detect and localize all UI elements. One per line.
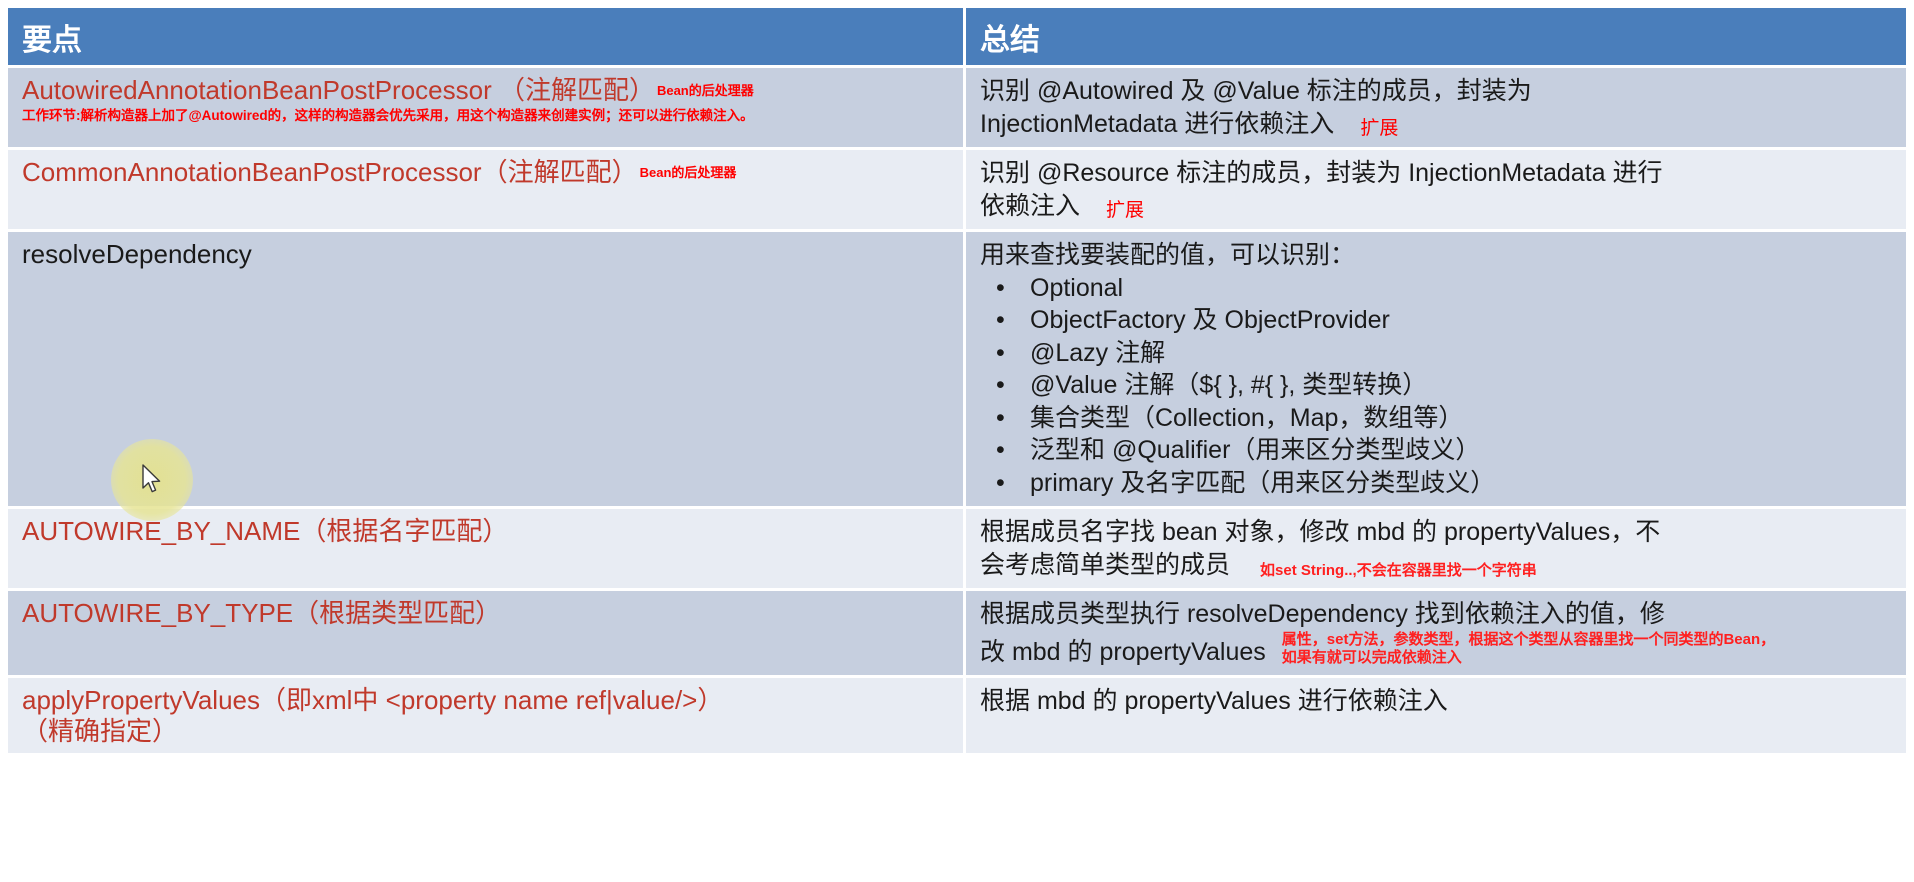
list-item: •@Value 注解（${ }, #{ }, 类型转换） (980, 369, 1896, 402)
row-key-cell: AUTOWIRE_BY_NAME（根据名字匹配） (8, 509, 963, 588)
summary-annotation-line-1: 属性，set方法，参数类型，根据这个类型从容器里找一个同类型的Bean， (1282, 631, 1775, 650)
slide-canvas: 要点 总结 AutowiredAnnotationBeanPostProcess… (0, 0, 1914, 882)
row-summary-cell: 根据成员类型执行 resolveDependency 找到依赖注入的值，修 改 … (966, 591, 1906, 675)
row-key-cell: AUTOWIRE_BY_TYPE（根据类型匹配） (8, 591, 963, 675)
summary-line-1: 用来查找要装配的值，可以识别： (980, 239, 1896, 272)
row-key-text-wrapper: CommonAnnotationBeanPostProcessor（注解匹配）B… (22, 157, 963, 188)
bullet-dot-icon: • (996, 272, 1005, 305)
list-item: •ObjectFactory 及 ObjectProvider (980, 304, 1896, 337)
summary-line-1: 根据 mbd 的 propertyValues 进行依赖注入 (980, 685, 1896, 718)
list-item-label: 集合类型（Collection，Map，数组等） (1030, 404, 1463, 432)
summary-line-2: InjectionMetadata 进行依赖注入 (980, 108, 1334, 141)
row-key-label: resolveDependency (22, 239, 963, 270)
row-summary-cell: 用来查找要装配的值，可以识别： •Optional •ObjectFactory… (966, 232, 1906, 506)
row-key-label: CommonAnnotationBeanPostProcessor（注解匹配） (22, 157, 638, 187)
row-key-label: AUTOWIRE_BY_TYPE（根据类型匹配） (22, 598, 963, 629)
bullet-dot-icon: • (996, 402, 1005, 435)
row-key-cell: AutowiredAnnotationBeanPostProcessor （注解… (8, 68, 963, 147)
list-item-label: ObjectFactory 及 ObjectProvider (1030, 306, 1390, 334)
summary-line-1: 根据成员类型执行 resolveDependency 找到依赖注入的值，修 (980, 598, 1896, 631)
list-item: •集合类型（Collection，Map，数组等） (980, 402, 1896, 435)
summary-line-2-wrap: 依赖注入 扩展 (980, 190, 1896, 223)
bullet-dot-icon: • (996, 369, 1005, 402)
bullet-dot-icon: • (996, 467, 1005, 500)
row-summary-cell: 识别 @Autowired 及 @Value 标注的成员，封装为 Injecti… (966, 68, 1906, 147)
summary-tag: 扩展 (1106, 195, 1144, 222)
list-item: •泛型和 @Qualifier（用来区分类型歧义） (980, 434, 1896, 467)
summary-tag: 扩展 (1360, 113, 1398, 140)
row-key-cell: applyPropertyValues（即xml中 <property name… (8, 678, 963, 753)
summary-annotation: 如set String..,不会在容器里找一个字符串 (1260, 562, 1537, 581)
list-item-label: primary 及名字匹配（用来区分类型歧义） (1030, 469, 1495, 497)
table-row[interactable]: resolveDependency 用来查找要装配的值，可以识别： •Optio… (8, 232, 1906, 506)
summary-table: 要点 总结 AutowiredAnnotationBeanPostProcess… (8, 8, 1906, 756)
list-item-label: Optional (1030, 274, 1123, 302)
list-item: •Optional (980, 272, 1896, 305)
list-item-label: @Value 注解（${ }, #{ }, 类型转换） (1030, 371, 1427, 399)
row-key-label: AUTOWIRE_BY_NAME（根据名字匹配） (22, 516, 963, 547)
table-row[interactable]: AutowiredAnnotationBeanPostProcessor （注解… (8, 68, 1906, 147)
row-key-cell: resolveDependency (8, 232, 963, 506)
row-summary-cell: 根据 mbd 的 propertyValues 进行依赖注入 (966, 678, 1906, 753)
row-key-annotation: 工作环节:解析构造器上加了@Autowired的，这样的构造器会优先采用，用这个… (22, 107, 963, 125)
bullet-dot-icon: • (996, 337, 1005, 370)
row-key-superscript: Bean的后处理器 (640, 165, 737, 180)
summary-line-2-wrap: 会考虑简单类型的成员 如set String..,不会在容器里找一个字符串 (980, 549, 1896, 582)
header-cell-summary: 总结 (966, 8, 1906, 65)
table-row[interactable]: AUTOWIRE_BY_NAME（根据名字匹配） 根据成员名字找 bean 对象… (8, 509, 1906, 588)
list-item: •@Lazy 注解 (980, 337, 1896, 370)
summary-line-1: 根据成员名字找 bean 对象，修改 mbd 的 propertyValues，… (980, 516, 1896, 549)
list-item: •primary 及名字匹配（用来区分类型歧义） (980, 467, 1896, 500)
header-cell-key: 要点 (8, 8, 963, 65)
summary-line-2: 依赖注入 (980, 190, 1080, 223)
summary-line-1: 识别 @Autowired 及 @Value 标注的成员，封装为 (980, 75, 1896, 108)
summary-line-2: 改 mbd 的 propertyValues (980, 636, 1266, 669)
summary-bullet-list: •Optional •ObjectFactory 及 ObjectProvide… (980, 272, 1896, 500)
table-row[interactable]: AUTOWIRE_BY_TYPE（根据类型匹配） 根据成员类型执行 resolv… (8, 591, 1906, 675)
summary-line-2: 会考虑简单类型的成员 (980, 549, 1230, 582)
row-key-text-wrapper: AutowiredAnnotationBeanPostProcessor （注解… (22, 75, 963, 106)
list-item-label: 泛型和 @Qualifier（用来区分类型歧义） (1030, 436, 1480, 464)
row-key-cell: CommonAnnotationBeanPostProcessor（注解匹配）B… (8, 150, 963, 229)
summary-line-2-wrap: 改 mbd 的 propertyValues 属性，set方法，参数类型，根据这… (980, 631, 1896, 669)
table-row[interactable]: applyPropertyValues（即xml中 <property name… (8, 678, 1906, 753)
row-key-superscript: Bean的后处理器 (657, 83, 754, 98)
bullet-dot-icon: • (996, 434, 1005, 467)
summary-annotation-block: 属性，set方法，参数类型，根据这个类型从容器里找一个同类型的Bean， 如果有… (1282, 631, 1775, 669)
row-summary-cell: 根据成员名字找 bean 对象，修改 mbd 的 propertyValues，… (966, 509, 1906, 588)
summary-line-1: 识别 @Resource 标注的成员，封装为 InjectionMetadata… (980, 157, 1896, 190)
row-key-label: AutowiredAnnotationBeanPostProcessor （注解… (22, 75, 655, 105)
row-summary-cell: 识别 @Resource 标注的成员，封装为 InjectionMetadata… (966, 150, 1906, 229)
row-key-label: applyPropertyValues（即xml中 <property name… (22, 685, 963, 716)
table-header-row: 要点 总结 (8, 8, 1906, 65)
row-key-label-line-2: （精确指定） (22, 716, 963, 747)
bullet-dot-icon: • (996, 304, 1005, 337)
table-row[interactable]: CommonAnnotationBeanPostProcessor（注解匹配）B… (8, 150, 1906, 229)
summary-line-2-wrap: InjectionMetadata 进行依赖注入 扩展 (980, 108, 1896, 141)
summary-annotation-line-2: 如果有就可以完成依赖注入 (1282, 649, 1775, 668)
list-item-label: @Lazy 注解 (1030, 339, 1165, 367)
